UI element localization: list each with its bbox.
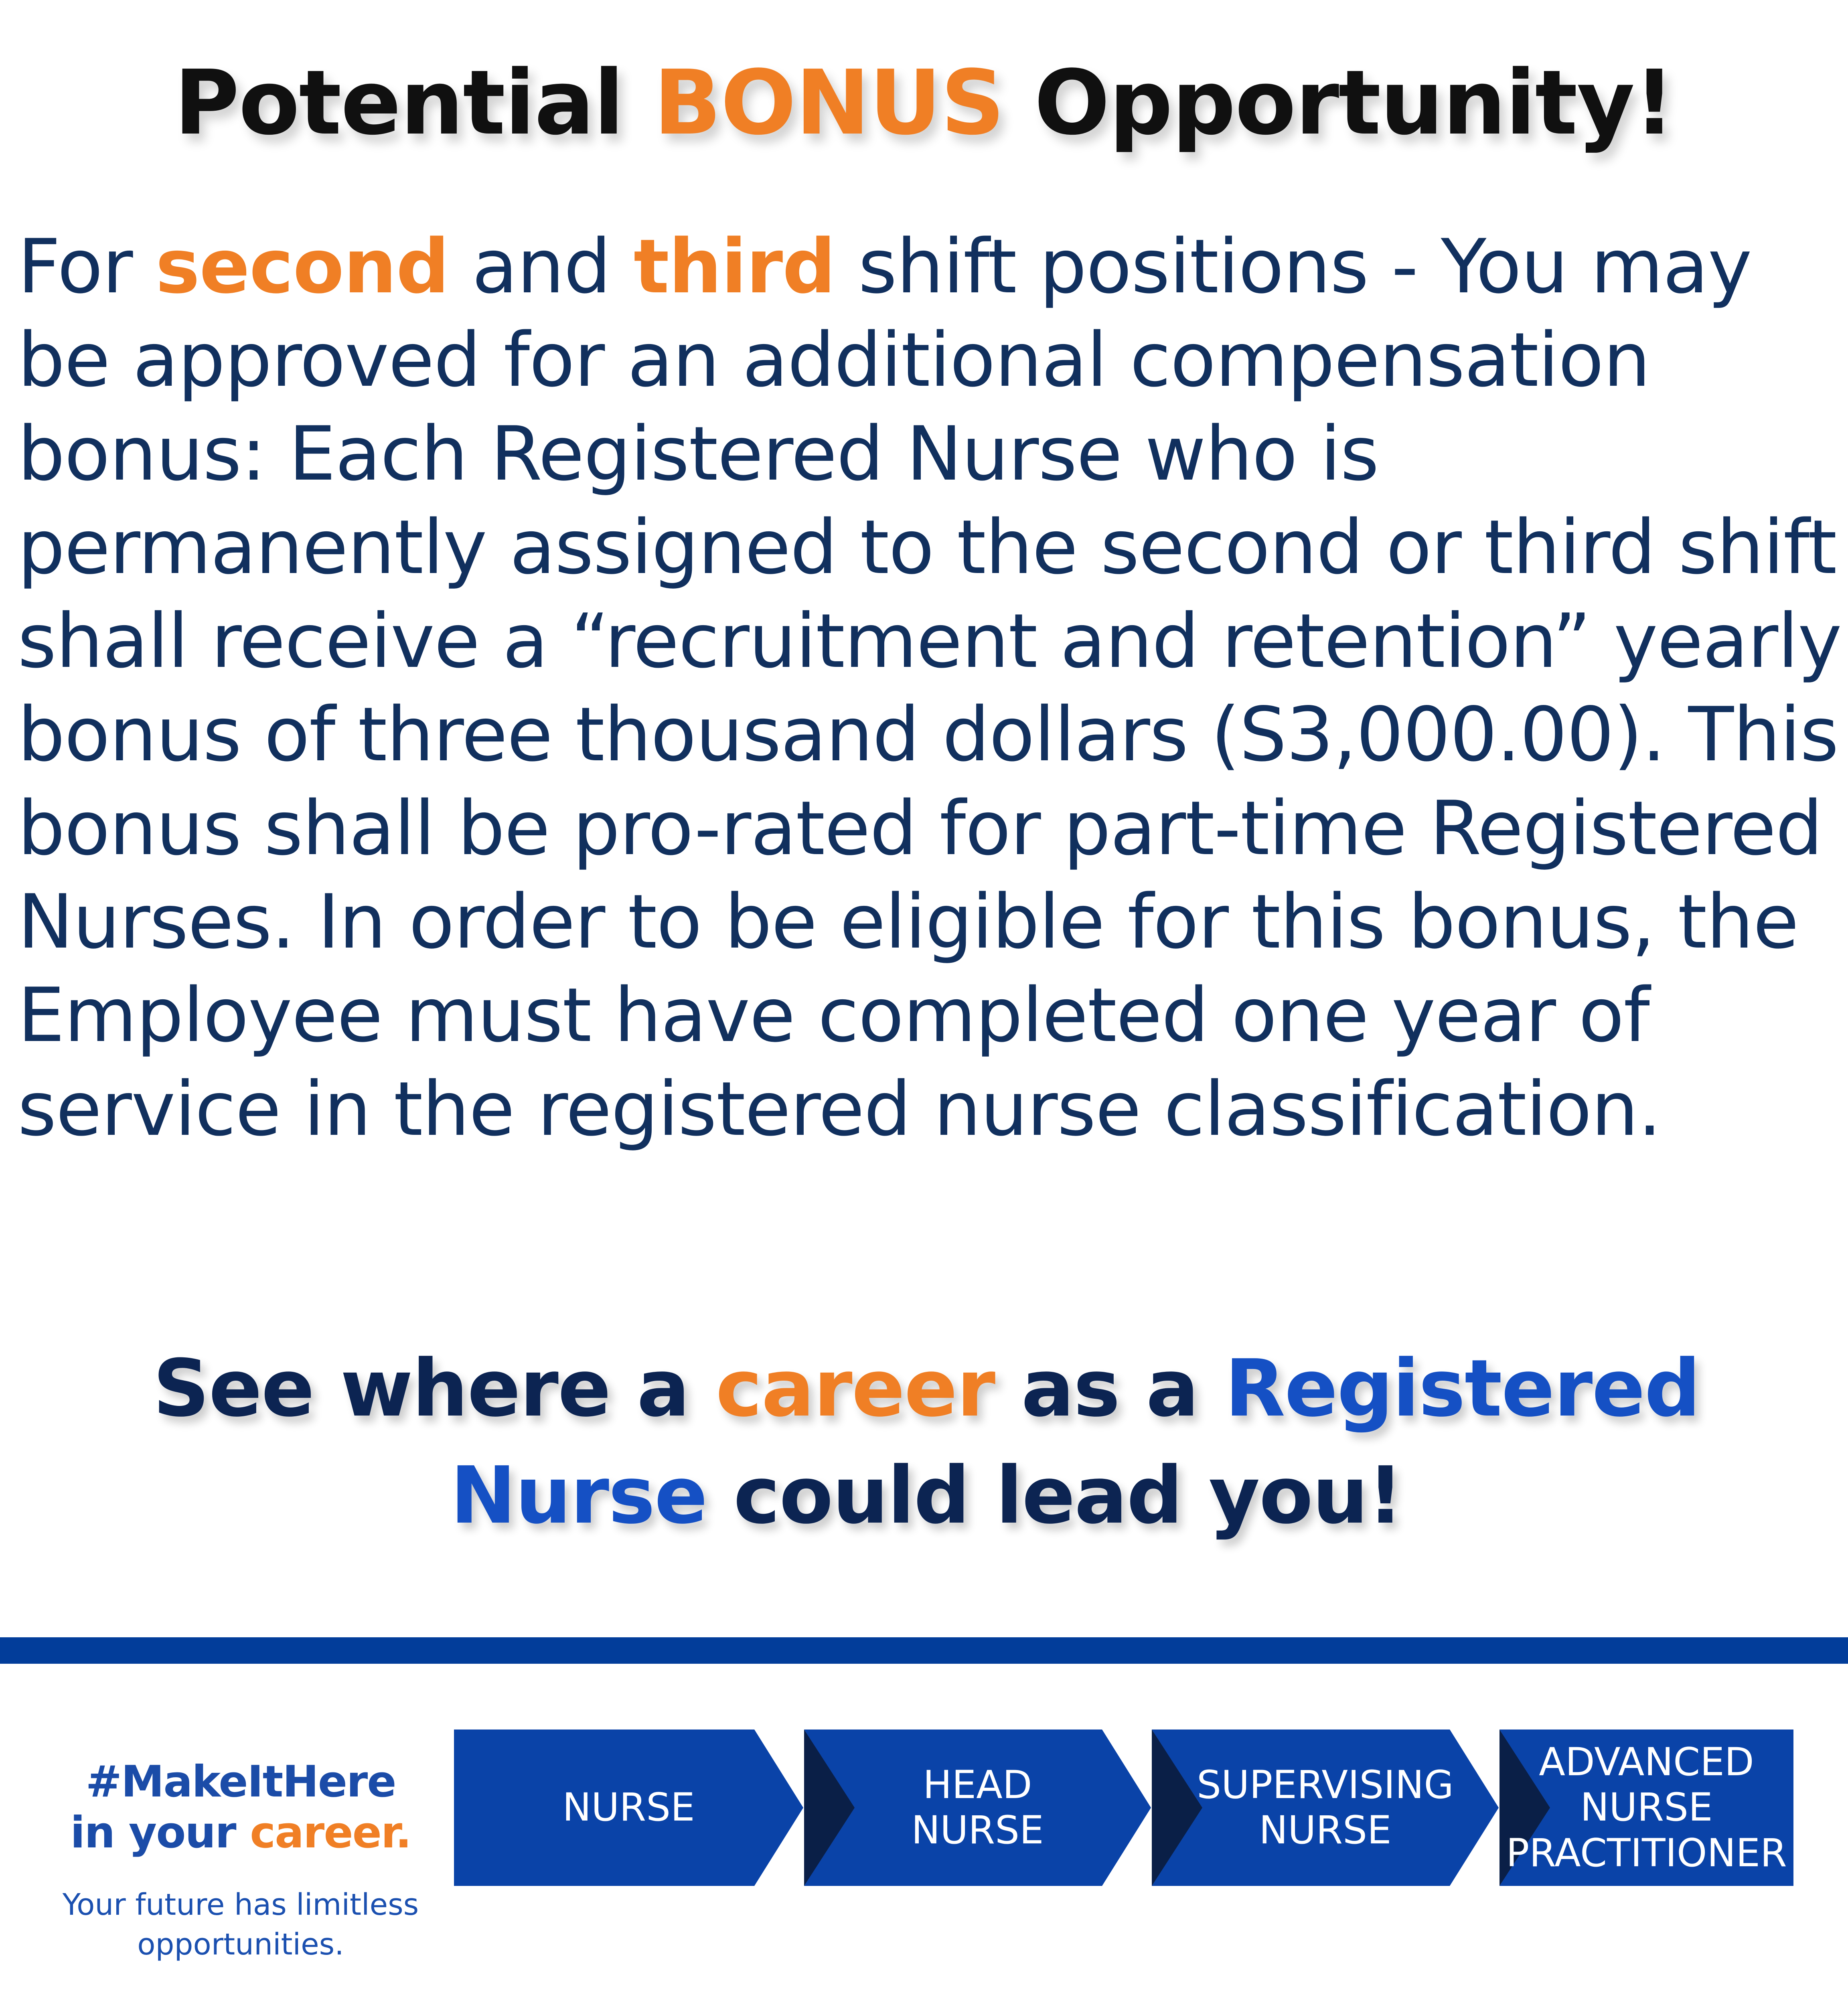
callout-part-2: as a — [995, 1343, 1225, 1434]
divider-rule-top — [0, 1637, 1848, 1664]
logo-subline-blue: in your — [70, 1808, 250, 1858]
career-step-label: NURSE — [551, 1785, 706, 1830]
body-bold-third: third — [634, 223, 835, 310]
page-title-part-2: Opportunity! — [1004, 51, 1674, 155]
page-title-part-1: Potential — [174, 51, 653, 155]
page-title-accent: BONUS — [654, 51, 1004, 155]
logo-subline: in your career. — [40, 1807, 441, 1858]
logo-subline-orange: career. — [250, 1808, 411, 1858]
career-step-label: HEAD NURSE — [900, 1762, 1055, 1853]
body-bold-second: second — [156, 223, 449, 310]
callout-part-1: See where a — [153, 1343, 715, 1434]
career-callout-heading: See where a career as a Registered Nurse… — [72, 1335, 1781, 1549]
callout-part-3: could lead you! — [707, 1450, 1403, 1541]
logo-tagline: Your future has limitless opportunities. — [40, 1885, 441, 1964]
make-it-here-logo: #MakeItHere in your career. Your future … — [40, 1756, 441, 1964]
career-step-supervising-nurse: SUPERVISING NURSE — [1152, 1730, 1499, 1886]
body-segment-1: For — [18, 223, 156, 310]
callout-accent-career: career — [716, 1343, 995, 1434]
bonus-description-paragraph: For second and third shift positions - Y… — [18, 220, 1846, 1156]
logo-hashtag-line: #MakeItHere — [40, 1756, 441, 1807]
career-step-advanced-nurse-practitioner: ADVANCED NURSE PRACTITIONER — [1499, 1730, 1793, 1886]
career-step-head-nurse: HEAD NURSE — [804, 1730, 1151, 1886]
career-step-label: SUPERVISING NURSE — [1185, 1762, 1465, 1853]
career-step-nurse: NURSE — [454, 1730, 803, 1886]
career-path-diagram: NURSE HEAD NURSE SUPERVISING NURSE ADVAN… — [454, 1730, 1793, 1886]
page-title: Potential BONUS Opportunity! — [0, 52, 1848, 154]
career-step-label: ADVANCED NURSE PRACTITIONER — [1495, 1740, 1798, 1876]
body-segment-3: shift positions - You may be approved fo… — [18, 223, 1841, 1152]
body-segment-2: and — [449, 223, 634, 310]
